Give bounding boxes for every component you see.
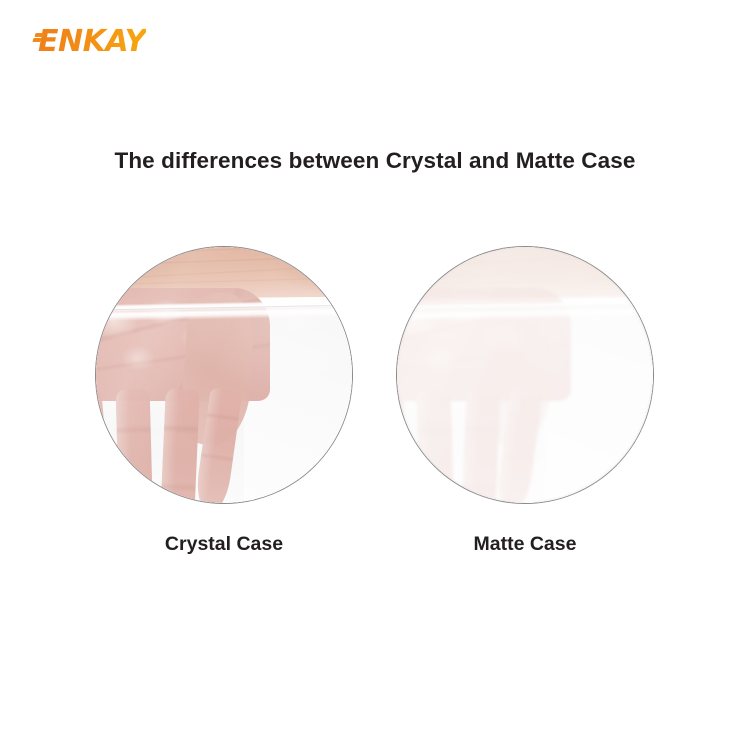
brand-logo: ENKAY (33, 27, 146, 57)
finger (96, 388, 115, 503)
finger (417, 388, 456, 503)
finger (397, 388, 416, 503)
spark-icon (33, 31, 44, 55)
comparison-item-matte (397, 247, 653, 503)
matte-scene (397, 247, 653, 503)
comparison-item-crystal (96, 247, 352, 503)
crystal-case-photo (96, 247, 352, 503)
finger (459, 388, 501, 503)
caption-matte-case: Matte Case (397, 533, 653, 556)
matte-case-photo (397, 247, 653, 503)
finger (116, 388, 155, 503)
crystal-scene (96, 247, 352, 503)
caption-crystal-case: Crystal Case (96, 533, 352, 556)
finger (158, 388, 200, 503)
comparison-row (0, 247, 750, 503)
product-info-graphic: ENKAY The differences between Crystal an… (0, 0, 750, 750)
page-title: The differences between Crystal and Matt… (0, 148, 750, 174)
brand-name: ENKAY (38, 27, 146, 57)
